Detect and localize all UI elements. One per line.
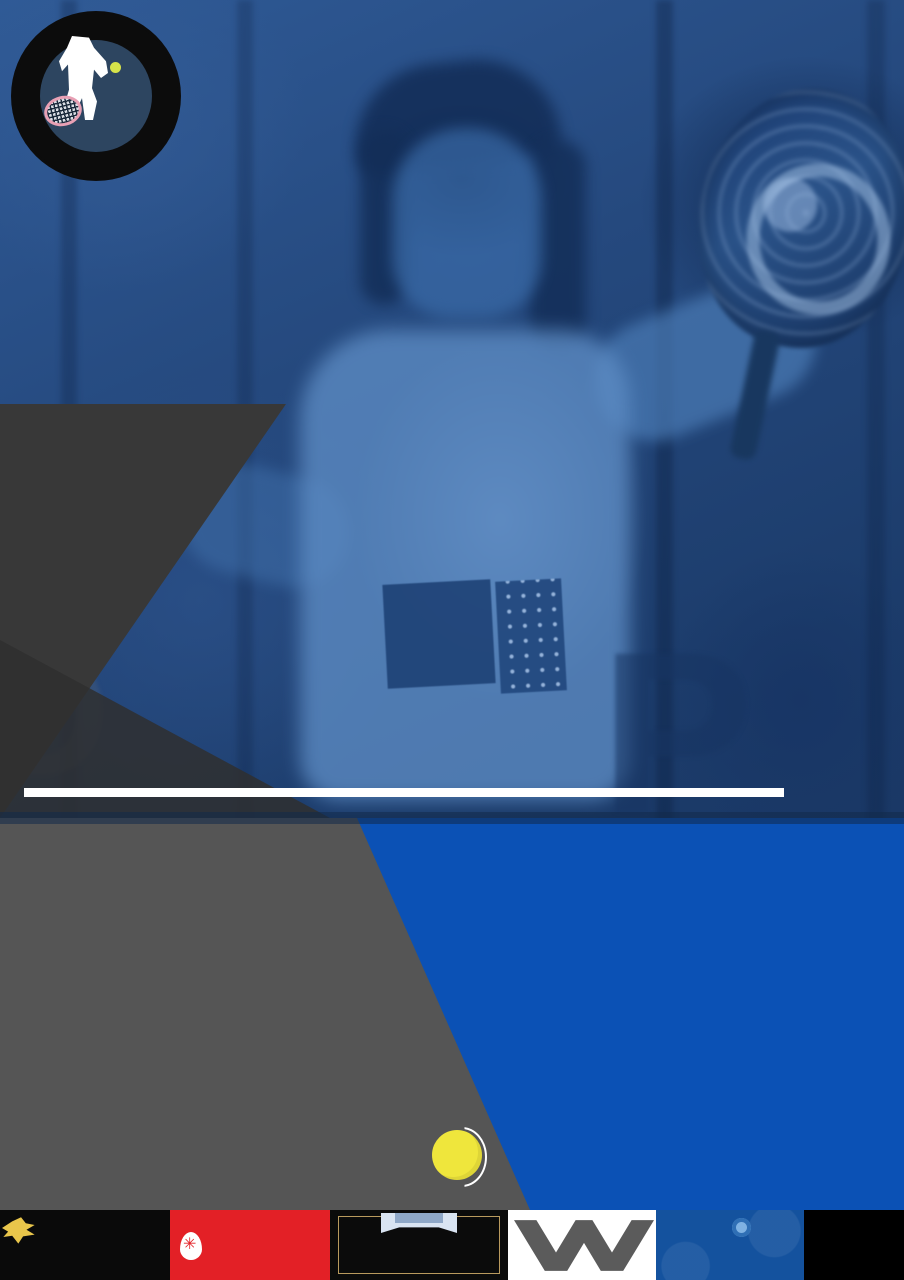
tennis-ball-icon — [432, 1130, 482, 1180]
sponsor-logo-bien-argento — [330, 1210, 508, 1280]
player-torso-shape — [300, 330, 630, 800]
circle-o-icon — [732, 1218, 751, 1237]
shirt-logo-line2 — [392, 592, 491, 597]
sponsor-logo-wm — [508, 1210, 656, 1280]
info-band-top-shadow — [0, 812, 904, 824]
monte-carlo-shirt-logo — [382, 579, 495, 689]
sponsor-logo-miobio — [20, 1120, 200, 1186]
wm-monogram-shape — [514, 1218, 654, 1272]
sponsor-logo-boike — [170, 1210, 330, 1280]
bee-icon — [2, 1216, 36, 1246]
sponsor-logo-fulltenis — [432, 1128, 632, 1186]
water-drop-icon — [180, 1232, 202, 1260]
horizontal-divider — [24, 788, 784, 797]
sponsor-logo-beebad — [0, 1210, 170, 1280]
club-logo-badge — [14, 14, 178, 178]
shirt-dot-pattern — [495, 578, 567, 693]
sponsor-logo-goats — [222, 1122, 392, 1190]
shirt-logo-line4 — [392, 592, 491, 597]
shirt-logo-line1 — [392, 592, 491, 597]
club-logo-bottom-arc-text — [14, 14, 178, 178]
shirt-logo-line3 — [392, 592, 491, 597]
sponsor-strip-filler — [804, 1210, 904, 1280]
poster-headline — [36, 303, 62, 387]
sponsor-strip — [0, 1210, 904, 1280]
tournament-poster: P D — [0, 0, 904, 1280]
player-face-shape — [392, 128, 542, 318]
sponsor-logo-tecnopapel — [656, 1210, 804, 1280]
